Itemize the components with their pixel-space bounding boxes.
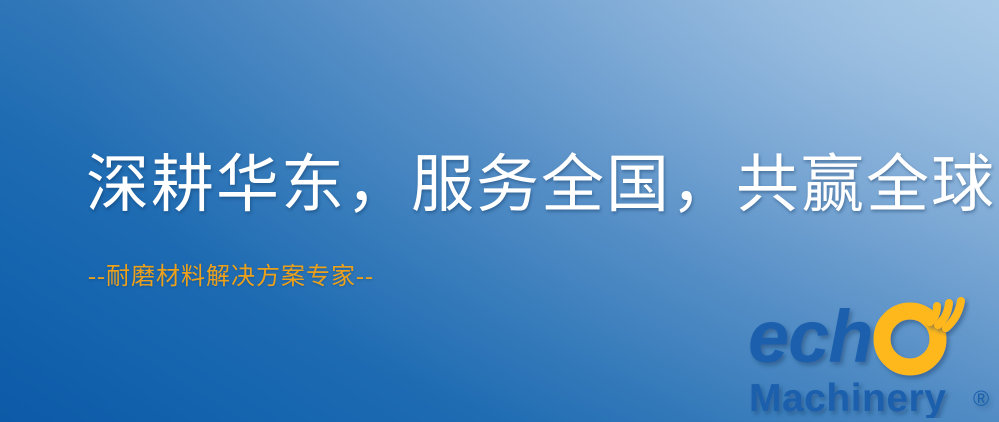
echo-machinery-logo[interactable]: ech Machinery ®	[744, 292, 996, 418]
registered-trademark-symbol: ®	[973, 386, 989, 411]
logo-wordmark-ech: ech	[748, 295, 873, 378]
signal-waves-icon	[930, 301, 961, 328]
logo-tagline: Machinery	[749, 377, 946, 418]
banner-subtitle: --耐磨材料解决方案专家--	[88, 265, 374, 289]
banner-headline: 深耕华东，服务全国，共赢全球	[86, 154, 996, 217]
hero-banner: 深耕华东，服务全国，共赢全球 --耐磨材料解决方案专家-- ech Mac	[0, 0, 999, 422]
